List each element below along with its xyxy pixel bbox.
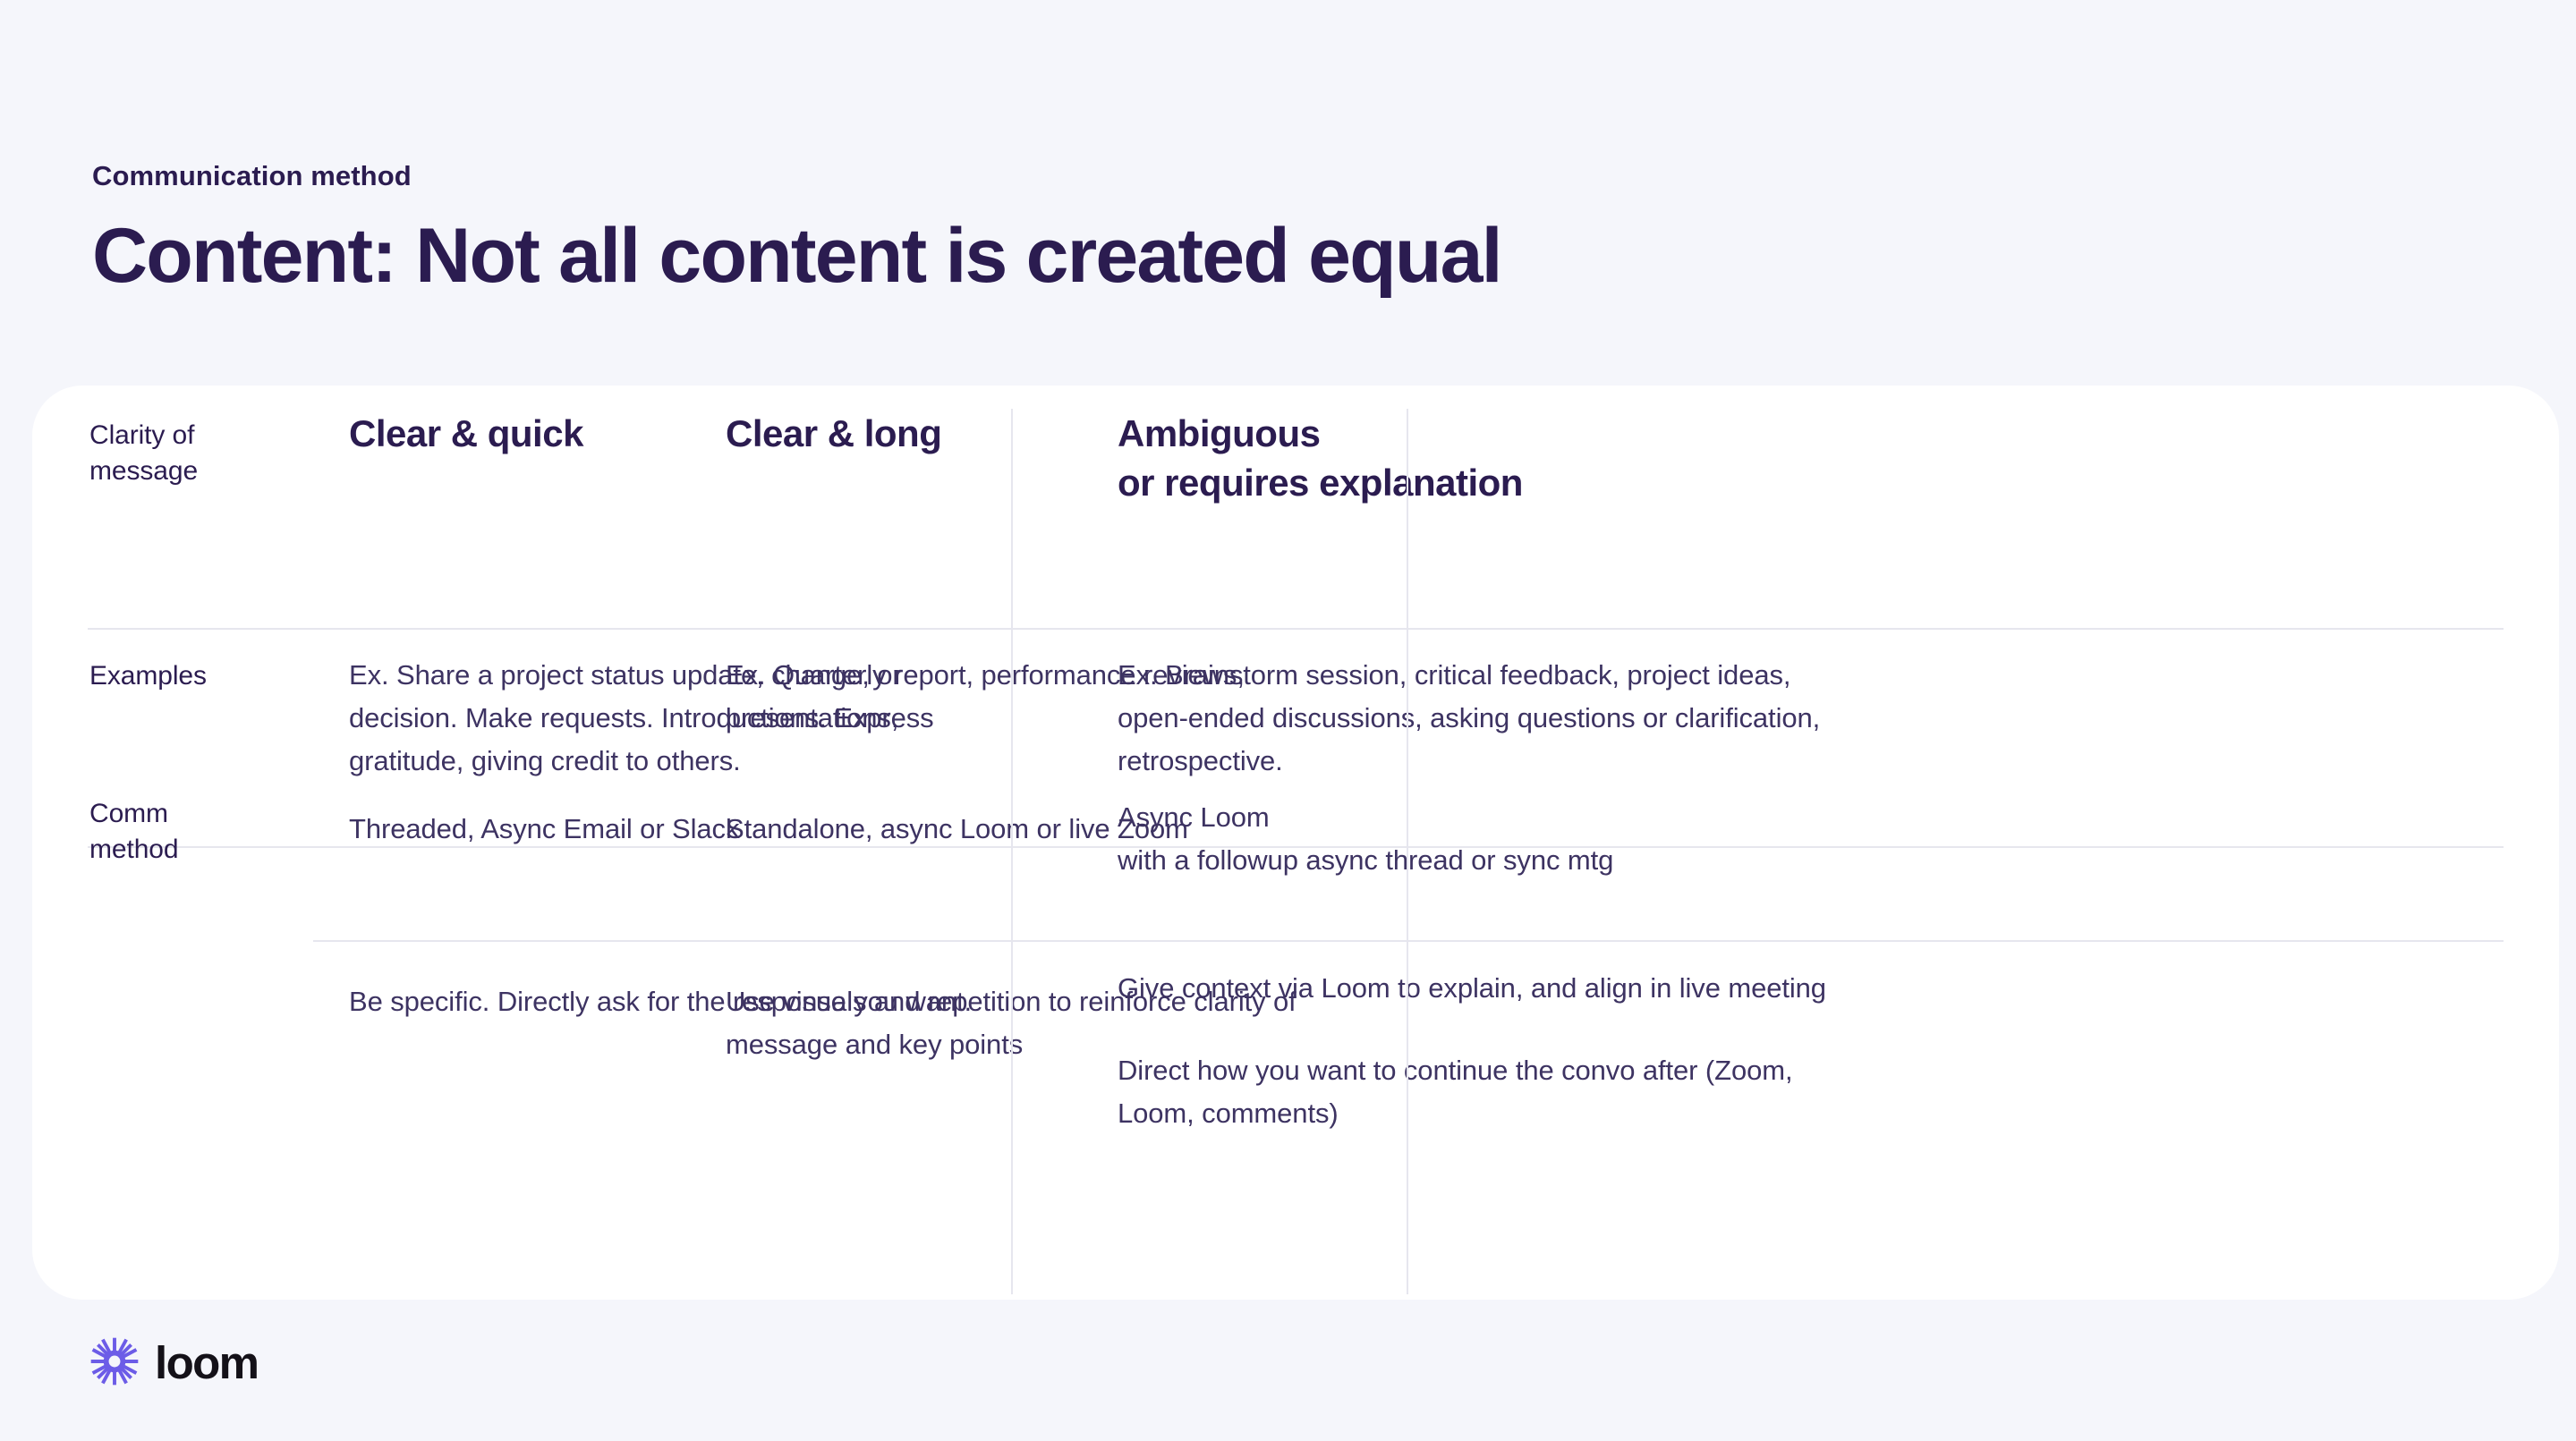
row-label-comm-line2: method (89, 832, 295, 868)
slide-header: Communication method Content: Not all co… (92, 159, 2240, 296)
column-header-ambiguous-line2: or requires explanation (1118, 458, 1851, 507)
page-title: Content: Not all content is created equa… (92, 216, 2240, 296)
corner-label-line1: Clarity of (89, 418, 295, 453)
loom-burst-icon (89, 1336, 140, 1386)
cell-text: Give context via Loom to explain, and al… (1118, 967, 1851, 1010)
loom-logo: loom (89, 1336, 258, 1386)
slide: Communication method Content: Not all co… (0, 0, 2576, 1441)
cell-examples-ambiguous: Ex. Brainstorm session, critical feedbac… (1118, 654, 1851, 783)
loom-wordmark: loom (155, 1340, 258, 1386)
comparison-table: Clarity of message Clear & quick Clear &… (32, 386, 2559, 1300)
content-card: Clarity of message Clear & quick Clear &… (32, 386, 2559, 1300)
column-divider-2 (1407, 409, 1408, 1294)
row-label-examples: Examples (89, 658, 295, 694)
row-divider-subrow (313, 940, 2504, 942)
row-label-comm-line1: Comm (89, 796, 295, 832)
table-corner-label: Clarity of message (89, 418, 295, 488)
cell-text: Ex. Brainstorm session, critical feedbac… (1118, 654, 1851, 783)
column-header-ambiguous: Ambiguous or requires explanation (1118, 409, 1851, 508)
row-label-comm-method: Comm method (89, 796, 295, 867)
cell-text-secondary: Direct how you want to continue the conv… (1118, 1049, 1851, 1135)
cell-tips-ambiguous: Give context via Loom to explain, and al… (1118, 967, 1851, 1135)
cell-text: Async Loom with a followup async thread … (1118, 796, 1851, 882)
eyebrow-label: Communication method (92, 159, 2240, 192)
column-header-ambiguous-line1: Ambiguous (1118, 409, 1851, 458)
row-label-examples-line1: Examples (89, 658, 295, 694)
column-divider-1 (1011, 409, 1013, 1294)
corner-label-line2: message (89, 453, 295, 489)
row-divider-header (88, 628, 2504, 630)
cell-comm-ambiguous: Async Loom with a followup async thread … (1118, 796, 1851, 882)
